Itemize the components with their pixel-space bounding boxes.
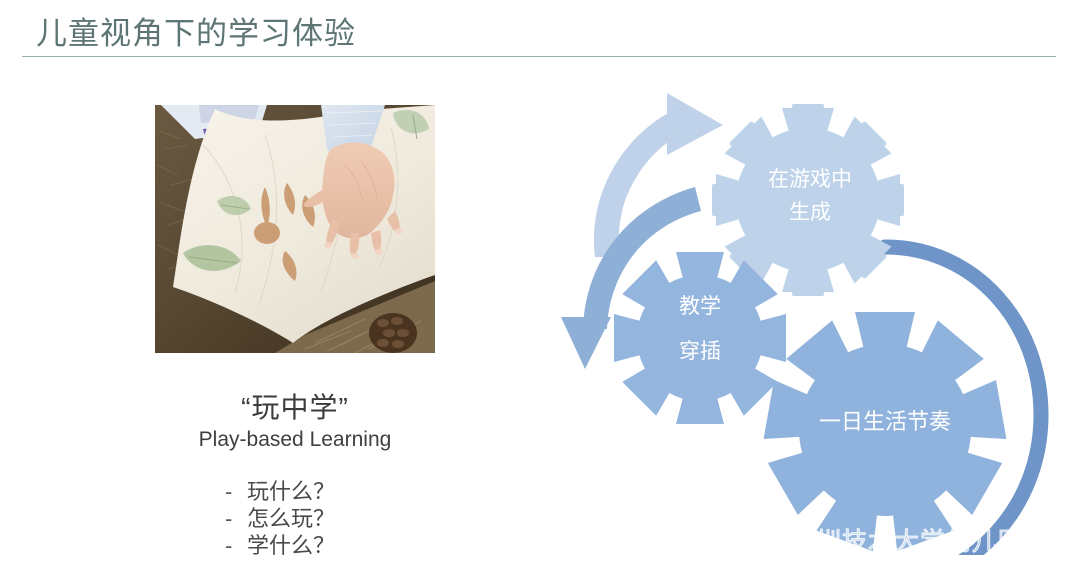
gear-diagram-svg [555, 85, 1075, 555]
list-item: -玩什么？ [225, 478, 335, 505]
gear-middle [614, 252, 786, 424]
list-item-label: 玩什么？ [247, 479, 335, 504]
arrow-up-left-icon [594, 93, 723, 257]
watermark: 深圳技术大学幼儿园 [748, 522, 1024, 558]
wechat-icon [748, 527, 782, 553]
photo-illustration [155, 105, 435, 353]
bullet-dash: - [225, 478, 247, 505]
slide-canvas: 儿童视角下的学习体验 [0, 0, 1080, 587]
list-item-label: 学什么？ [247, 533, 335, 558]
list-item-label: 怎么玩？ [247, 506, 335, 531]
list-item: -学什么？ [225, 532, 335, 559]
watermark-label: 深圳技术大学幼儿园 [790, 522, 1024, 558]
list-item: -怎么玩？ [225, 505, 335, 532]
bullet-dash: - [225, 532, 247, 559]
question-list: -玩什么？ -怎么玩？ -学什么？ [225, 478, 335, 559]
title-divider [22, 56, 1056, 57]
page-title: 儿童视角下的学习体验 [36, 8, 356, 53]
bullet-dash: - [225, 505, 247, 532]
learning-photo [155, 105, 435, 353]
gear-large [764, 312, 1007, 551]
caption-chinese: “玩中学” [155, 386, 435, 426]
gear-diagram [555, 85, 1075, 555]
caption-english: Play-based Learning [155, 428, 435, 452]
